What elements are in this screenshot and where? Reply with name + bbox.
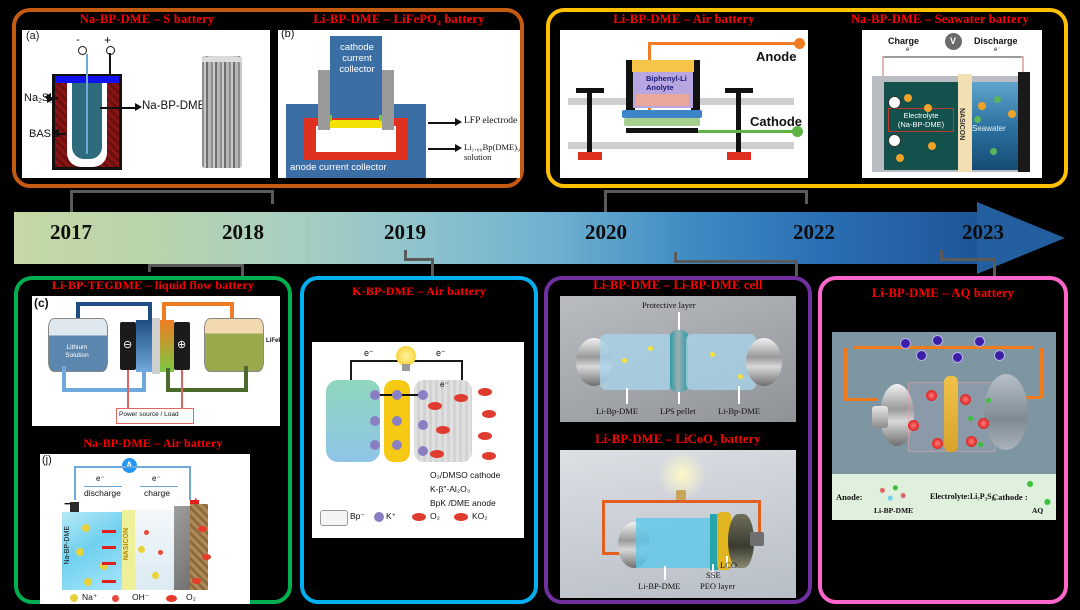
panel-e-discharge-label: Discharge [974,36,1018,46]
panel-j-charge-label: charge [144,488,170,498]
panel-a-cell-photo [202,56,242,168]
panel-f-k-bp-dme-air-battery: K-BP-DME – Air battery e⁻ e⁻ [304,280,534,600]
panel-g-figure: Protective layer Li-Bp-DME LPS pellet Li… [560,296,796,422]
panel-e-seawater-label: Seawater [972,124,1006,133]
panel-c-plus-symbol: ⊕ [177,338,186,351]
panel-g-left-label: Li-Bp-DME [596,406,638,416]
panel-j-wire-left [74,466,76,500]
panel-j-wire-right [189,466,191,500]
connector-i-up [940,250,943,260]
panel-i-li-ion-2 [960,394,971,405]
panel-e-electron-bubble-2 [888,134,901,147]
panel-e-ion-1 [904,94,912,102]
panel-i-anode-stub [872,406,888,428]
panel-f-ko2-3 [430,450,444,458]
panel-h-figure: Li-BP-DME PEO layer SSE LCO [560,450,796,598]
panel-d-anode-label: Anode [756,49,796,64]
panel-g-pointer-left [626,388,628,404]
panel-h-libpdme-label: Li-BP-DME [638,581,681,591]
connector-g-down [795,260,798,276]
panel-c-pipe-bottom-right [166,388,248,392]
panel-g-protective-label: Protective layer [642,300,696,310]
panel-c-power-wire-right [181,370,183,408]
panel-a-arrowhead-na2s8 [44,93,51,101]
panel-g-pellet-label: LPS pellet [660,406,696,416]
panel-i-electron-1 [900,338,911,349]
panel-f-arrow-1 [380,394,392,396]
panel-c-pipe-bottom-left-up1 [62,366,66,392]
panel-i-cathode-disc [984,374,1028,450]
panel-b-anode-cc-label: anode current collector [290,162,387,173]
panel-e-ion-4 [896,154,904,162]
panel-a-figure: (a) - + Na2S8 BASE Na-BP-DME [22,30,270,178]
panel-c-pipe-top-left-down [76,302,80,318]
panel-i-li-ion-6 [978,418,989,429]
panel-f-k-ion-1 [370,390,380,400]
panel-j-e-mark-1 [102,530,116,533]
panel-g-pointer-right [738,386,740,404]
panel-d-cathode-wire [698,130,796,133]
panel-a-na-bp-dme-s-battery: Na-BP-DME – S battery (a) - + Na2S8 BASE [22,12,272,180]
panel-i-electrolyte-label: Electrolyte:Li₇P₃S₁₁ [930,492,996,501]
panel-b-lfp-electrode [324,120,388,128]
panel-e-ion-3 [928,142,936,150]
panel-c-power-label: Power source / Load [119,411,179,418]
panel-b-grey-post-right [382,70,394,130]
panel-j-na-bp-dme-air-battery: Na-BP-DME – Air battery (j) A e⁻ e⁻ disc… [18,436,288,606]
panel-h-bulb-base [676,490,686,500]
panel-c-pipe-top-left [76,302,152,306]
panel-f-ko2-2 [436,426,450,434]
panel-f-separator-label: K-β″-Al₂O₃ [430,484,470,494]
panel-e-ion-9 [990,148,997,155]
panel-d-seal-left [578,152,602,160]
panel-j-legend-o2-dot [166,595,177,602]
panel-d-rail-bottom [568,142,794,149]
panel-d-post-left [587,88,592,160]
panel-e-ion-7 [994,96,1001,103]
panel-i-cathode-label: Cathode : [992,492,1028,502]
panel-g-dot-4 [738,374,743,379]
panel-a-tag: (a) [26,30,39,42]
panel-g-dot-2 [648,346,653,351]
timeline-year-2017: 2017 [50,220,92,245]
panel-j-oh-ion-2 [158,550,163,555]
panel-i-anode-label: Anode: [836,492,862,502]
panel-d-li-bp-dme-air-battery: Li-BP-DME – Air battery Anode Biphenyl-L… [556,12,812,180]
panel-h-sse-label: SSE [706,570,721,580]
panel-e-figure: Charge Discharge e⁻ e⁻ V Electrolyte(Na-… [862,30,1042,178]
panel-f-legend-o2-label: O₂ [430,511,440,521]
panel-j-na-ion-2 [76,548,84,556]
panel-f-legend-ko2-icon [454,513,468,521]
panel-j-underline-left [84,486,122,487]
panel-d-anode-wire-h [648,42,800,45]
panel-c-pipe-bottom-left [62,388,146,392]
panel-e-electron-left: e⁻ [906,46,913,53]
panel-i-figure: Anode: Li-BP-DME Electrolyte:Li₇P₃S₁₁ Ca… [832,332,1056,520]
panel-e-cathode-electrode [1018,72,1030,172]
panel-f-k-ion-8 [418,420,428,430]
panel-e-electron-right: e⁻ [994,46,1001,53]
panel-j-oh-ion-1 [144,530,149,535]
panel-f-o2-3 [478,432,492,440]
panel-f-k-ion-9 [418,446,428,456]
timeline-year-2022: 2022 [793,220,835,245]
panel-d-salt-layer [636,94,690,106]
panel-e-electrolyte-label: Electrolyte(Na-BP-DME) [888,108,954,132]
panel-i-anode-structure-icon [872,480,924,506]
panel-f-bulb-base [402,364,410,371]
panel-j-o2-3 [192,578,201,584]
panel-c-figure: (c) LithiumSolution LiFePO4 ⊖ ⊕ [32,296,280,426]
connector-a-to-2017 [70,190,73,212]
panel-i-cathode-name: AQ [1032,506,1043,515]
panel-f-legend-bp-label: Bp⁻ [350,511,365,522]
panel-j-na-ion-4 [84,578,92,586]
panel-d-lisicon [622,110,702,118]
panel-g-right-label: Li-Bp-DME [718,406,760,416]
panel-c-title: Li-BP-TEGDME – liquid flow battery [18,278,288,293]
panel-e-title: Na-BP-DME – Seawater battery [820,12,1060,27]
panel-f-arrow-2 [402,394,418,396]
panel-c-lithium-solution-label: LithiumSolution [54,344,100,360]
panel-j-anolyte-block [62,512,122,590]
panel-g-pointer-mid [678,392,680,404]
panel-i-electron-5 [952,352,963,363]
panel-h-terminal-pin [750,532,764,546]
panel-c-half-cell-right [160,320,174,372]
panel-f-k-ion-6 [392,440,402,450]
panel-i-wire-bottom-left [844,398,878,401]
panel-f-white-notch [312,342,340,356]
panel-j-e-mark-3 [102,562,116,565]
panel-b-arrowhead-lfp [455,118,462,126]
panel-f-o2-1 [478,388,492,396]
panel-d-crossbar-right [725,88,753,93]
panel-d-anode-terminal [794,38,805,49]
panel-e-ion-8 [974,116,981,123]
panel-j-o2-2 [202,554,211,560]
panel-f-o2-4 [482,452,496,460]
panel-i-electron-4 [916,350,927,361]
panel-j-nasicon-label: NASICON [123,528,130,560]
panel-c-pipe-top-right-down [230,302,234,318]
panel-h-wire-top [602,500,760,503]
panel-f-legend-k-label: K⁺ [386,511,396,522]
panel-i-green-dot-1 [968,416,973,421]
figure-canvas: Na-BP-DME – S battery (a) - + Na2S8 BASE [0,0,1080,610]
panel-j-circuit-wire [74,466,190,468]
panel-i-electron-3 [974,336,985,347]
panel-j-o2-1 [198,526,207,532]
panel-f-title: K-BP-DME – Air battery [304,284,534,299]
panel-a-plus-label: + [104,33,111,47]
panel-g-electrolyte-left [600,334,672,390]
connector-d-to-2020 [604,190,607,212]
panel-d-cathode-label: Cathode [750,114,802,129]
panel-j-figure: (j) A e⁻ e⁻ discharge charge − + Na-BP-D… [40,454,250,604]
panel-g-title: Li-BP-DME – Li-BP-DME cell [548,278,808,293]
panel-j-legend-na-dot [70,594,78,602]
panel-i-li-ion-4 [932,438,943,449]
panel-d-crossbar-left [576,88,604,93]
panel-c-tank-right [204,318,264,372]
connector-f-down [431,258,434,276]
panel-j-legend-na-label: Na⁺ [82,592,97,603]
panel-f-figure: e⁻ e⁻ [312,342,524,538]
panel-f-ko2-1 [428,402,442,410]
connector-g-up [674,252,677,262]
panel-b-solution-label: Li₁.₀₀Bp(DME)₉.₆₅ solution [464,142,520,162]
panel-b-title: Li-BP-DME – LiFePO₄ battery [278,12,520,27]
timeline-year-2020: 2020 [585,220,627,245]
connector-g-h [674,260,798,263]
panel-f-o2-2 [482,410,496,418]
panel-j-legend-oh-dot [112,595,119,602]
panel-j-title: Na-BP-DME – Air battery [18,436,288,451]
panel-e-ion-6 [1008,110,1016,118]
panel-i-li-ion-5 [966,436,977,447]
panel-e-ion-5 [978,102,986,110]
panel-h-title: Li-BP-DME – LiCoO₂ battery [548,432,808,447]
connector-a-top [70,190,274,193]
connector-i-down [993,258,996,276]
panel-i-cathode-structure-icon [1024,478,1054,508]
panel-a-nabpdme-label: Na-BP-DME [142,100,205,112]
panel-h-electrolyte-body [636,518,712,568]
panel-a-arrowhead-base [52,129,59,137]
connector-e-down [805,190,808,204]
panel-j-na-ion-5 [138,546,145,553]
panel-a-current-lead [86,54,88,154]
panel-f-legend-o2-icon [412,513,426,521]
panel-f-k-ion-7 [418,390,428,400]
panel-i-title: Li-BP-DME – AQ battery [822,286,1064,301]
panel-g-li-bp-dme-cell: Li-BP-DME – Li-BP-DME cell Protective la… [548,278,808,434]
panel-b-cathode-cc-label: cathodecurrentcollector [334,42,380,75]
connector-i-h [940,258,996,261]
panel-d-seal-right [727,152,751,160]
timeline-year-2023: 2023 [962,220,1004,245]
panel-c-pipe-bottom-right-up2 [244,366,248,392]
panel-h-lco-label: LCO [720,560,737,570]
panel-j-gas-diffusion-layer [190,504,208,590]
panel-f-legend-ko2-label: KO₂ [472,511,488,521]
panel-e-na-bp-dme-seawater-battery: Na-BP-DME – Seawater battery Charge Disc… [820,12,1060,180]
timeline: 2017 2018 2019 2020 2022 2023 [14,212,1066,264]
panel-b-tag: (b) [281,30,294,40]
connector-b-down [271,190,274,204]
panel-c-pipe-bottom-right-up1 [166,368,170,392]
panel-a-terminal-pos [106,46,115,55]
panel-c-membrane [152,318,160,374]
panel-j-e-mark-2 [102,546,116,549]
panel-b-figure: (b) cathodecurrentcollector anode curren… [278,30,520,178]
panel-c-li-bp-tegdme-liquid-flow-battery: Li-BP-TEGDME – liquid flow battery (c) L… [18,278,288,436]
panel-e-ion-2 [924,104,932,112]
panel-a-title: Na-BP-DME – S battery [22,12,272,27]
panel-d-anolyte-label: Biphenyl-Li Anolyte [646,74,690,92]
panel-b-lfp-label: LFP electrode [464,116,517,126]
panel-j-e-mark-4 [102,580,116,583]
panel-c-half-cell-left [136,320,152,372]
panel-i-electron-6 [994,350,1005,361]
panel-c-tag: (c) [34,296,49,310]
panel-b-arrowline-solution [428,148,456,150]
panel-j-electron-right: e⁻ [152,474,161,483]
panel-g-dot-1 [622,358,627,363]
panel-d-green-layer [624,118,700,126]
panel-d-lithium-foil [632,60,694,72]
panel-e-nasicon-label: NASICON [958,108,965,140]
panel-c-pipe-top-left-riser [148,302,152,320]
panel-i-wire-right [1040,348,1043,398]
panel-f-k-ion-3 [370,440,380,450]
panel-e-wire-left [882,56,884,78]
panel-e-circuit-wire [882,56,1024,58]
panel-f-wire-left [350,360,352,382]
panel-f-lightbulb [396,346,416,366]
panel-j-legend-oh-label: OH⁻ [132,592,149,603]
panel-j-ammeter-label: A [126,460,133,470]
panel-e-charge-label: Charge [888,36,919,46]
panel-f-legend-k-dot [374,512,384,522]
panel-i-electron-2 [932,335,943,346]
panel-f-electron-left: e⁻ [364,348,374,359]
panel-c-pipe-top-right [162,302,234,306]
panel-g-current-collector-right [746,338,782,386]
panel-c-lifepo4-label: LiFePO4 [266,338,280,344]
panel-h-peo-label: PEO layer [700,581,735,591]
panel-j-tag: (j) [42,454,52,466]
panel-a-minus-label: - [76,34,80,46]
panel-d-title: Li-BP-DME – Air battery [556,12,812,27]
panel-e-voltmeter-label: V [950,36,956,46]
panel-f-electron-cathode: e⁻ [440,380,449,389]
panel-c-minus-symbol: ⊖ [123,338,132,351]
panel-i-membrane [944,376,958,452]
panel-f-wire-right [461,360,463,382]
panel-a-arrowhead-nabpdme [135,103,142,111]
panel-e-electron-bubble-1 [888,96,901,109]
panel-b-arrowhead-solution [455,144,462,152]
panel-a-lead-pos [109,53,111,75]
panel-f-k-ion-5 [392,416,402,426]
panel-d-post-right [736,88,741,160]
connector-c-h [148,264,244,267]
panel-c-pipe-top-right-up [162,302,166,320]
panel-a-photo-top [202,56,242,62]
panel-f-k-ion-2 [370,416,380,426]
panel-f-k-ion-4 [392,390,402,400]
panel-j-discharge-label: discharge [84,488,121,498]
panel-b-arrowline-lfp [428,122,456,124]
panel-j-legend-o2-label: O₂ [186,592,196,602]
panel-i-li-bp-dme-aq-battery: Li-BP-DME – AQ battery [822,282,1064,598]
panel-d-figure: Anode Biphenyl-Li Anolyte Cathode [560,30,808,178]
panel-i-wire-left [844,348,847,400]
panel-a-arrowline-nabpdme [100,107,136,109]
panel-i-green-dot-2 [986,398,991,403]
panel-j-nabpdme-label: Na-BP-DME [64,526,71,565]
timeline-year-2019: 2019 [384,220,426,245]
panel-j-na-ion-1 [82,524,90,532]
panel-b-grey-post-left [318,70,330,130]
timeline-year-2018: 2018 [222,220,264,245]
panel-i-wire-top [854,346,1034,349]
panel-b-li-bp-dme-lifepo4-battery: Li-BP-DME – LiFePO₄ battery (b) cathodec… [278,12,520,180]
panel-j-underline-right [140,486,178,487]
connector-f-up [404,250,407,260]
panel-h-wire-left [602,500,605,554]
panel-h-li-bp-dme-licoo2-battery: Li-BP-DME – LiCoO₂ battery Li-BP-DME PEO… [548,432,808,604]
panel-f-cathode-label: O₂/DMSO cathode [430,470,500,480]
panel-f-legend-bp-icon [320,510,348,526]
connector-de-top [604,190,808,193]
panel-d-cathode-plate [626,128,698,133]
panel-i-anode-name: Li-BP-DME [874,506,913,515]
panel-f-anode-label: BpK /DME anode [430,498,496,508]
panel-c-power-wire-left [127,370,129,408]
panel-g-dot-3 [710,352,715,357]
connector-f-h [404,258,434,261]
panel-f-ko2-4 [454,394,468,402]
panel-f-electron-right: e⁻ [436,348,446,359]
panel-i-li-ion-3 [908,420,919,431]
panel-c-pipe-bottom-left-up2 [142,368,146,392]
panel-i-li-ion-1 [926,390,937,401]
panel-i-green-dot-3 [978,442,983,447]
panel-h-pointer-libpdme [664,566,666,580]
panel-j-electron-left: e⁻ [96,474,105,483]
panel-j-na-ion-6 [152,572,159,579]
